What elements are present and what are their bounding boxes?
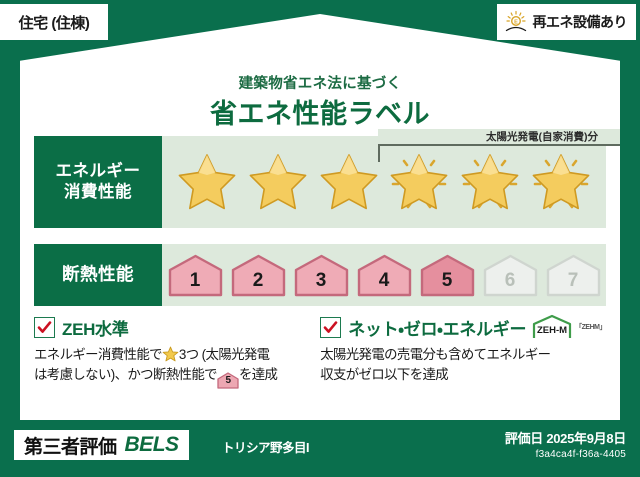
insulation-performance-key: 断熱性能: [34, 244, 162, 306]
nze-desc-line1: 太陽光発電の売電分も含めてエネルギー: [320, 347, 550, 362]
star-1: [175, 151, 239, 213]
energy-performance-value: 太陽光発電(自家消費)分: [162, 136, 606, 228]
star-2: [246, 151, 310, 213]
evaluation-id: f3a4ca4f-f36a-4405: [505, 449, 626, 460]
zeh-desc-part4: を達成: [239, 367, 277, 382]
feature-zeh-description: エネルギー消費性能で3つ (太陽光発電 は考慮しない)、かつ断熱性能で5を達成: [34, 345, 306, 389]
check-icon: [320, 317, 341, 338]
insulation-grade-value: 4: [379, 271, 390, 297]
label-title: 省エネ性能ラベル: [20, 92, 620, 131]
zeh-m-logo-caption: 「ZEHM」: [575, 322, 606, 332]
label-subtitle: 建築物省エネ法に基づく: [20, 72, 620, 93]
insulation-grade-5: 5: [419, 253, 476, 297]
renewable-equipment-badge: E 再エネ設備あり: [497, 4, 637, 40]
bels-japanese-label: 第三者評価: [24, 432, 117, 459]
label-footer: 第三者評価 BELS トリシア野多目I 評価日 2025年9月8日 f3a4ca…: [0, 420, 640, 477]
evaluation-info: 評価日 2025年9月8日 f3a4ca4f-f36a-4405: [505, 428, 626, 460]
svg-text:E: E: [514, 20, 518, 26]
insulation-grade-value: 5: [442, 271, 453, 297]
bels-logo-text: BELS: [125, 433, 179, 457]
house-type-label: 住宅 (住棟): [19, 12, 90, 33]
insulation-grade-value: 6: [505, 271, 516, 297]
feature-zeh-standard: ZEH水準 エネルギー消費性能で3つ (太陽光発電 は考慮しない)、かつ断熱性能…: [34, 314, 306, 414]
star-3: [317, 151, 381, 213]
insulation-grade-6: 6: [482, 253, 539, 297]
energy-performance-key: エネルギー 消費性能: [34, 136, 162, 228]
label-card: 建築物省エネ法に基づく 省エネ性能ラベル エネルギー 消費性能 太陽光発電(自家…: [20, 14, 620, 420]
inline-star-icon: [162, 346, 179, 362]
house-type-badge: 住宅 (住棟): [0, 4, 108, 40]
insulation-grade-1: 1: [167, 253, 224, 297]
star-4: [387, 151, 451, 213]
insulation-grade-3: 3: [293, 253, 350, 297]
energy-performance-row: エネルギー 消費性能 太陽光発電(自家消費)分: [34, 136, 606, 228]
renewable-label: 再エネ設備あり: [533, 12, 628, 32]
feature-nze-header: ネット・ゼロ・エネルギー ZEH-M 「ZEHM」: [320, 314, 606, 340]
zeh-m-logo-text: ZEH-M: [537, 325, 567, 336]
zeh-desc-part1: エネルギー消費性能で: [34, 347, 162, 362]
feature-zeh-header: ZEH水準: [34, 314, 306, 340]
insulation-performance-row: 断熱性能 1 2 3 4 5 6 7: [34, 244, 606, 306]
insulation-grade-value: 3: [316, 271, 327, 297]
property-name: トリシア野多目I: [222, 437, 309, 456]
sun-renewable-icon: E: [503, 10, 529, 34]
insulation-grade-7: 7: [545, 253, 602, 297]
star-6: [529, 151, 593, 213]
insulation-grade-4: 4: [356, 253, 413, 297]
bels-badge: 第三者評価 BELS: [14, 430, 189, 460]
insulation-key-label: 断熱性能: [62, 264, 134, 286]
star-rating: [162, 136, 606, 228]
feature-columns: ZEH水準 エネルギー消費性能で3つ (太陽光発電 は考慮しない)、かつ断熱性能…: [34, 314, 606, 414]
energy-performance-label: 住宅 (住棟) E 再エネ設備あり 建築物省エネ法に基づく: [0, 0, 640, 477]
insulation-grade-2: 2: [230, 253, 287, 297]
insulation-grade-value: 1: [190, 271, 201, 297]
energy-key-line2: 消費性能: [64, 182, 132, 203]
feature-zeh-title: ZEH水準: [62, 315, 129, 340]
insulation-grade-scale: 1 2 3 4 5 6 7: [162, 244, 606, 306]
feature-nze-title: ネット・ゼロ・エネルギー: [348, 315, 526, 340]
insulation-grade-value: 7: [568, 271, 579, 297]
insulation-grade-value: 2: [253, 271, 264, 297]
inline-grade-badge: 5: [217, 372, 239, 389]
feature-net-zero-energy: ネット・ゼロ・エネルギー ZEH-M 「ZEHM」 太陽光発電の売電分も含めてエ…: [320, 314, 606, 414]
inline-grade-value: 5: [217, 372, 239, 389]
zeh-desc-part2: 3つ (太陽光発電: [179, 347, 270, 362]
zeh-desc-part3: は考慮しない)、かつ断熱性能で: [34, 367, 217, 382]
feature-nze-description: 太陽光発電の売電分も含めてエネルギー 収支がゼロ以下を達成: [320, 345, 606, 385]
insulation-performance-value: 1 2 3 4 5 6 7: [162, 244, 606, 306]
check-icon: [34, 317, 55, 338]
evaluation-date: 評価日 2025年9月8日: [505, 428, 626, 447]
energy-key-line1: エネルギー: [56, 161, 141, 182]
nze-desc-line2: 収支がゼロ以下を達成: [320, 367, 448, 382]
zeh-m-logo: ZEH-M 「ZEHM」: [531, 314, 606, 340]
star-5: [458, 151, 522, 213]
